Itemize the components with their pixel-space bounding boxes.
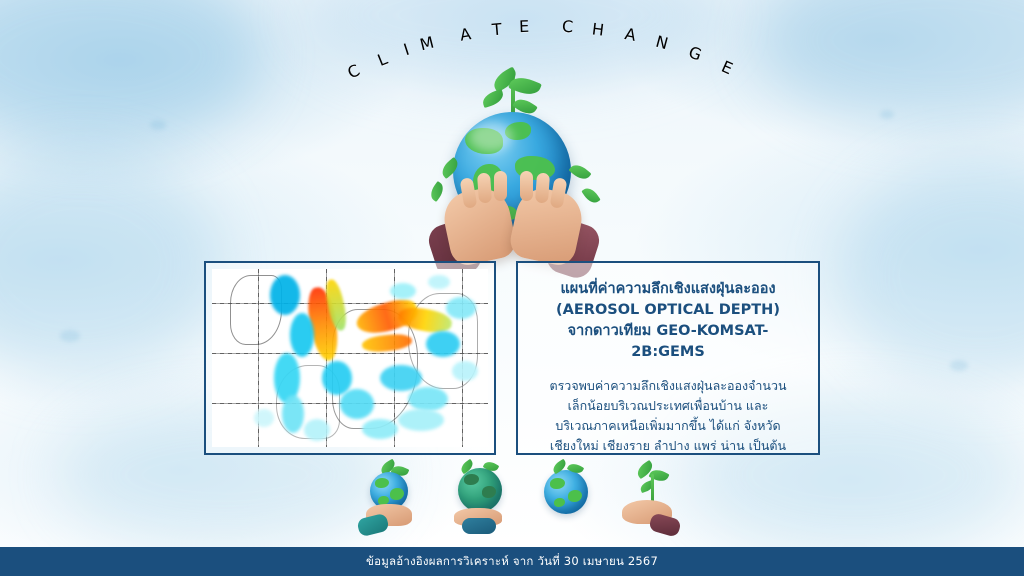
panel-body-line4: เชียงใหม่ เชียงราย ลำปาง แพร่ น่าน เป็นต… (538, 436, 798, 456)
map-panel[interactable] (204, 261, 496, 455)
aod-patch-low (304, 419, 330, 441)
landmass (375, 478, 389, 488)
background-speck (880, 110, 894, 119)
landmass (482, 486, 496, 498)
finger (477, 173, 492, 204)
hand-holding-globe-icon (352, 462, 426, 534)
finger (494, 171, 507, 201)
panel-title-line4: 2B:GEMS (538, 342, 798, 363)
cuff (462, 518, 496, 534)
background-speck (950, 360, 968, 371)
panel-title-line2: (AEROSOL OPTICAL DEPTH) (538, 300, 798, 321)
landmass (464, 474, 479, 485)
headline-char: A (459, 24, 473, 44)
hand-with-seedling-icon (610, 462, 684, 534)
panel-title-line3: จากดาวเทียม GEO-KOMSAT- (538, 321, 798, 342)
aod-patch-low (270, 275, 300, 315)
headline-char: C (562, 17, 574, 37)
leaf-icon (481, 89, 506, 108)
globe-with-trees-icon (444, 462, 518, 534)
aod-patch-low (290, 313, 314, 357)
panel-body-line1: ตรวจพบค่าความลึกเชิงแสงฝุ่นละอองจำนวน (538, 376, 798, 396)
aod-patch-low (452, 361, 478, 381)
background-speck (60, 330, 80, 342)
globe-with-sprout-icon (530, 462, 604, 534)
landmass (554, 498, 565, 507)
panel-title: แผนที่ค่าความลึกเชิงแสงฝุ่นละออง (AEROSO… (538, 279, 798, 363)
hands-holding-earth-icon (410, 70, 620, 265)
globe-highlight (469, 122, 513, 152)
leaf-icon (427, 181, 446, 202)
headline-char: H (591, 19, 605, 39)
headline-char: A (623, 24, 637, 45)
cuff (648, 512, 682, 538)
aod-patch-low (428, 275, 450, 289)
headline-char: M (418, 33, 436, 55)
footer-bar: ข้อมูลอ้างอิงผลการวิเคราะห์ จาก วันที่ 3… (0, 547, 1024, 576)
headline-char: E (519, 17, 530, 36)
aod-patch-low (390, 283, 416, 299)
description-panel: แผนที่ค่าความลึกเชิงแสงฝุ่นละออง (AEROSO… (516, 261, 820, 455)
finger (520, 171, 533, 201)
aod-patch-low (426, 331, 460, 357)
headline-char: C (344, 61, 362, 83)
leaf-icon (568, 161, 591, 183)
aod-patch-low (380, 365, 422, 391)
aod-patch-low (408, 387, 448, 411)
aod-patch-low (398, 409, 444, 431)
landmass (550, 478, 565, 489)
footer-text: ข้อมูลอ้างอิงผลการวิเคราะห์ จาก วันที่ 3… (366, 553, 658, 571)
mini-illustration-row (352, 462, 682, 534)
leaf-icon (581, 185, 600, 206)
headline-char: I (401, 40, 411, 60)
panel-body-line2: เล็กน้อยบริเวณประเทศเพื่อนบ้าน และ (538, 396, 798, 416)
aerosol-optical-depth-map (212, 269, 488, 447)
panel-body-line3: บริเวณภาคเหนือเพิ่มมากขึ้น ได้แก่ จังหวั… (538, 416, 798, 436)
headline-char: L (375, 49, 390, 70)
landmass (568, 490, 582, 502)
finger (535, 173, 550, 204)
aod-patch-low (254, 409, 274, 427)
headline-char: G (686, 42, 704, 64)
panel-title-line1: แผนที่ค่าความลึกเชิงแสงฝุ่นละออง (538, 279, 798, 300)
slide-root: C L I M A T E C H A N G E CLIMATE CHANGE (0, 0, 1024, 576)
aod-patch-low (362, 419, 398, 439)
headline-char: N (654, 32, 670, 53)
aod-patch-low (340, 389, 374, 419)
aod-patch-low (446, 297, 476, 319)
aod-patch-low (282, 395, 304, 433)
globe-icon (458, 468, 502, 512)
aod-patch-low (322, 361, 352, 395)
landmass (390, 488, 404, 500)
headline-char: T (491, 20, 502, 40)
globe-icon (544, 470, 588, 514)
panel-body: ตรวจพบค่าความลึกเชิงแสงฝุ่นละอองจำนวน เล… (538, 376, 798, 456)
cuff (356, 513, 389, 538)
background-speck (150, 120, 166, 130)
